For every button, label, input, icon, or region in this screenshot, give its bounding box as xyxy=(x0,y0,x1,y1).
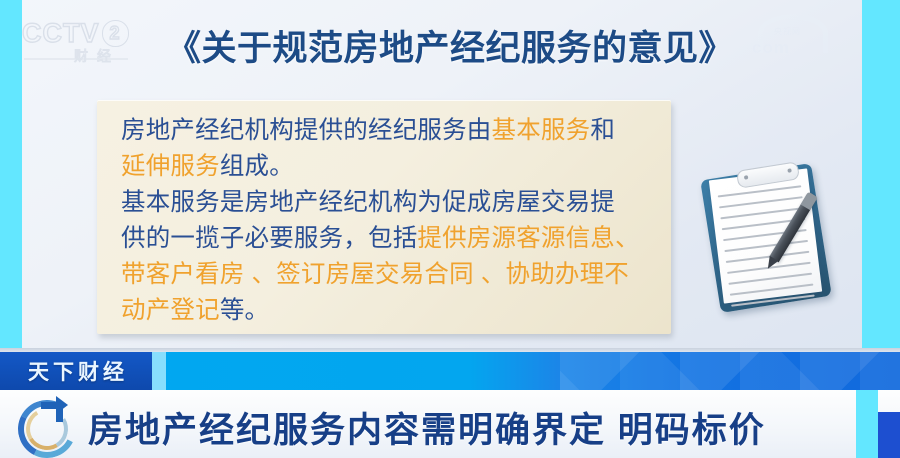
content-line: 延伸服务组成。 xyxy=(121,149,661,185)
body-text: 基本服务是房地产经纪机构为促成房屋交易提 xyxy=(121,189,615,216)
clipboard-illustration xyxy=(700,163,850,323)
document-title: 《关于规范房地产经纪服务的意见》 xyxy=(0,20,900,71)
content-line: 供的一揽子必要服务，包括提供房源客源信息、 xyxy=(121,221,661,257)
highlighted-text: 基本服务 xyxy=(492,117,591,144)
program-badge: 天下财经 xyxy=(0,352,152,390)
body-text: 组成。 xyxy=(220,153,294,180)
content-line: 带客户看房 、签订房屋交易合同 、协助办理不 xyxy=(121,257,661,293)
highlighted-text: 带客户看房 、签订房屋交易合同 、协助办理不 xyxy=(121,261,629,288)
body-text: 和 xyxy=(590,117,615,144)
paper-line xyxy=(730,284,814,296)
paper-line xyxy=(719,196,803,208)
content-line: 动产登记等。 xyxy=(121,293,661,329)
bottom-right-cyan-bar xyxy=(856,390,878,458)
paper-line xyxy=(718,185,802,197)
content-card-text: 房地产经纪机构提供的经纪服务由基本服务和延伸服务组成。基本服务是房地产经纪机构为… xyxy=(121,113,661,329)
content-card: 房地产经纪机构提供的经纪服务由基本服务和延伸服务组成。基本服务是房地产经纪机构为… xyxy=(97,100,671,334)
broadcast-frame: CCTV2 财经 央视网 com 《关于规范房地产经纪服务的意见》 房地产经纪机… xyxy=(0,0,900,458)
program-badge-label: 天下财经 xyxy=(24,356,128,386)
highlighted-text: 动产登记 xyxy=(121,297,220,324)
logo-arrow-down xyxy=(56,402,63,422)
program-badge-tab xyxy=(152,352,166,390)
body-text: 等。 xyxy=(220,297,269,324)
body-text: 供的一揽子必要服务，包括 xyxy=(121,225,417,252)
body-text: 房地产经纪机构提供的经纪服务由 xyxy=(121,117,492,144)
clipboard-paper xyxy=(709,168,822,303)
news-headline: 房地产经纪服务内容需明确界定 明码标价 xyxy=(88,400,848,454)
content-line: 房地产经纪机构提供的经纪服务由基本服务和 xyxy=(121,113,661,149)
circular-arrow-logo xyxy=(16,396,78,454)
paper-line xyxy=(731,294,815,306)
highlighted-text: 延伸服务 xyxy=(121,153,220,180)
bottom-right-blue-bar xyxy=(878,412,900,458)
content-line: 基本服务是房地产经纪机构为促成房屋交易提 xyxy=(121,185,661,221)
paper-line xyxy=(728,273,812,285)
paper-line xyxy=(724,240,808,252)
highlighted-text: 提供房源客源信息、 xyxy=(417,225,639,252)
